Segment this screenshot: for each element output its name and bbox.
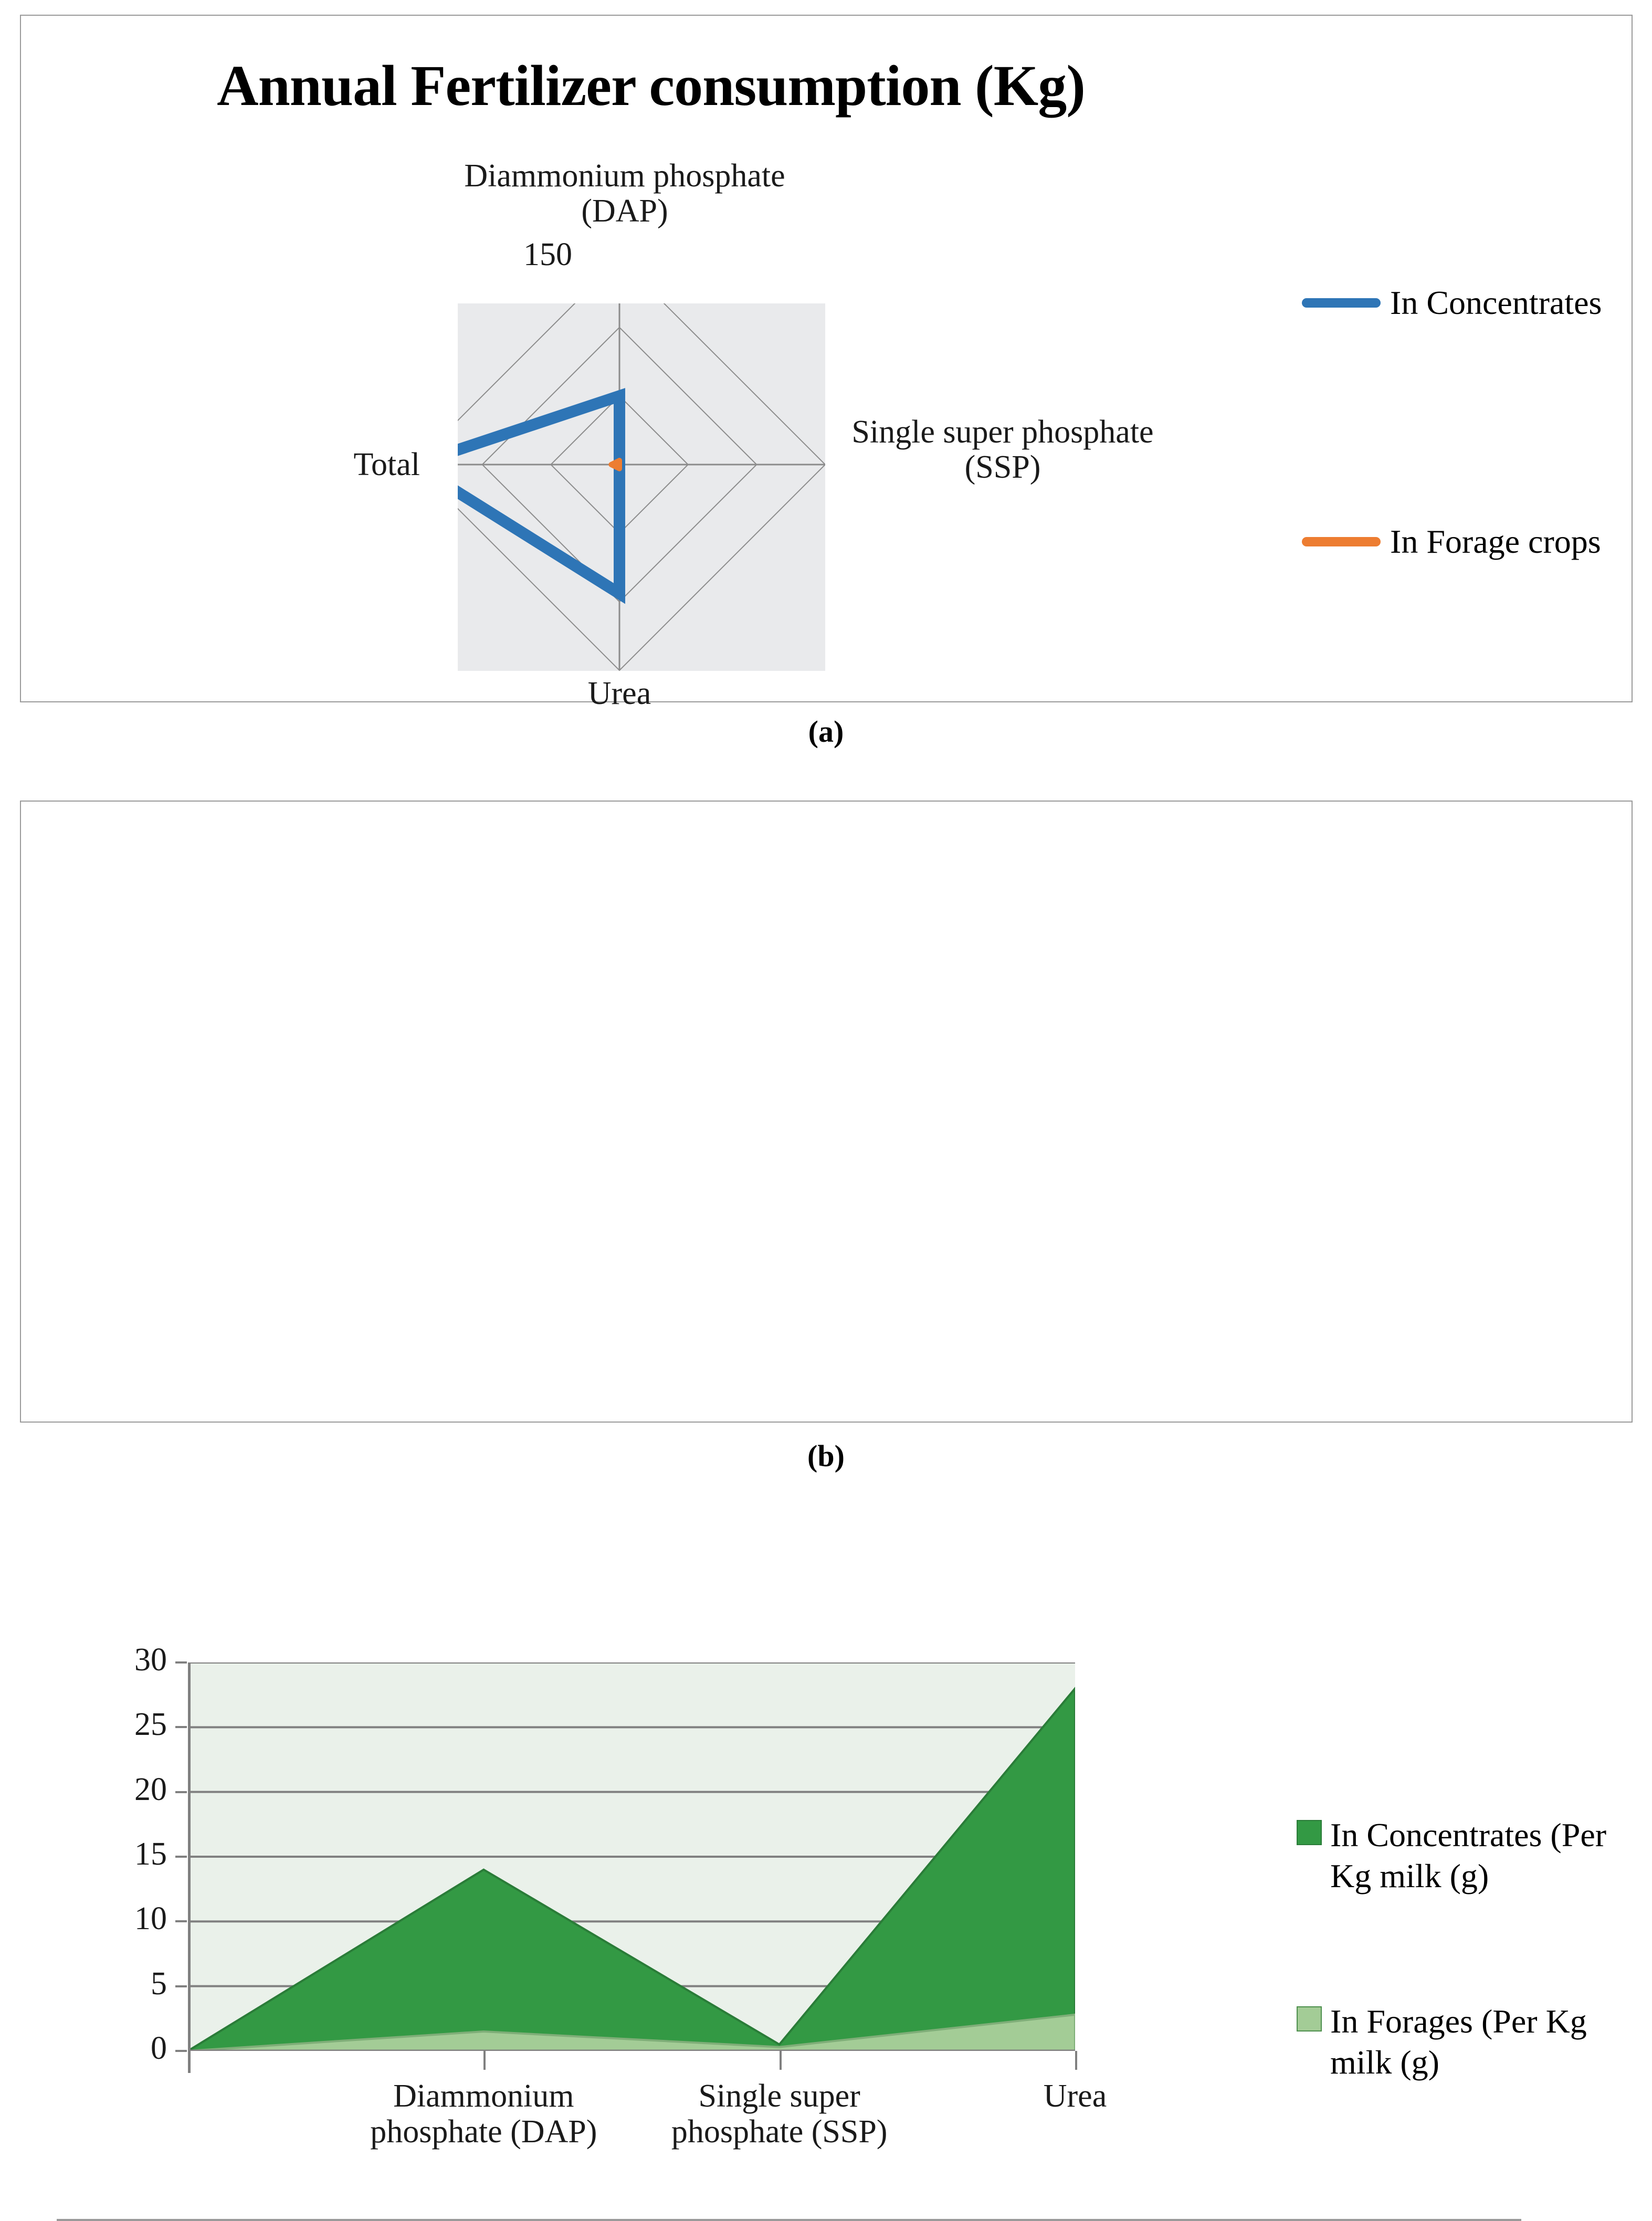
subfigure-caption-b: (b) bbox=[0, 1438, 1652, 1473]
figure-page: Annual Fertilizer consumption (Kg) Diamm… bbox=[0, 0, 1652, 1506]
legend-item-in-concentrates[interactable]: In Concentrates bbox=[1302, 283, 1602, 322]
chart-a-title: Annual Fertilizer consumption (Kg) bbox=[21, 52, 1281, 119]
subfigure-caption-a: (a) bbox=[0, 714, 1652, 749]
radar-axis-label-ssp: Single super phosphate (SSP) bbox=[840, 415, 1165, 485]
area-y-tick-mark bbox=[175, 1661, 187, 1664]
legend-label: In Forages (Per Kg milk (g) bbox=[1330, 2001, 1643, 2083]
area-y-tick-mark bbox=[175, 2050, 187, 2052]
legend-line-swatch-orange bbox=[1302, 537, 1381, 546]
area-x-tick-3: Urea bbox=[960, 2078, 1191, 2114]
area-y-tick-15: 15 bbox=[88, 1836, 167, 1873]
area-y-tick-mark bbox=[175, 1920, 187, 1922]
area-x-tick-1: Diammonium phosphate (DAP) bbox=[368, 2078, 599, 2150]
legend-item-in-forage-crops[interactable]: In Forage crops bbox=[1302, 522, 1601, 561]
area-x-tick-2: Single super phosphate (SSP) bbox=[664, 2078, 895, 2150]
radar-chart-svg bbox=[458, 303, 825, 671]
area-x-tick-mark bbox=[1075, 2051, 1077, 2070]
area-y-tick-20: 20 bbox=[88, 1771, 167, 1808]
area-y-tick-mark bbox=[175, 1791, 187, 1793]
area-y-tick-25: 25 bbox=[88, 1706, 167, 1743]
area-y-tick-10: 10 bbox=[88, 1900, 167, 1938]
chart-panel-a: Annual Fertilizer consumption (Kg) Diamm… bbox=[20, 15, 1633, 702]
area-chart-svg bbox=[188, 1662, 1075, 2051]
area-y-axis-spine bbox=[188, 1662, 191, 2073]
legend-label: In Concentrates bbox=[1390, 283, 1602, 322]
area-bottom-rule bbox=[57, 2219, 1521, 2221]
area-y-tick-5: 5 bbox=[88, 1965, 167, 2003]
radar-plot-area bbox=[458, 303, 825, 671]
area-y-tick-mark bbox=[175, 1856, 187, 1858]
radar-tick-150: 150 bbox=[472, 236, 572, 273]
area-x-tick-mark bbox=[780, 2051, 782, 2070]
area-y-tick-mark bbox=[175, 1726, 187, 1728]
legend-square-swatch-light-green bbox=[1297, 2006, 1322, 2031]
legend-line-swatch-blue bbox=[1302, 298, 1381, 308]
area-y-tick-mark bbox=[175, 1985, 187, 1987]
area-y-tick-30: 30 bbox=[88, 1641, 167, 1679]
area-y-tick-0: 0 bbox=[88, 2030, 167, 2067]
legend-label: In Concentrates (Per Kg milk (g) bbox=[1330, 1815, 1643, 1897]
radar-axis-label-total: Total bbox=[294, 447, 420, 482]
legend-item-in-concentrates-per-kg-milk[interactable]: In Concentrates (Per Kg milk (g) bbox=[1297, 1815, 1643, 1897]
area-plot-area bbox=[188, 1662, 1075, 2051]
area-x-tick-mark bbox=[483, 2051, 486, 2070]
chart-panel-b: 302520151050 Diammonium phosphate (DAP)S… bbox=[20, 801, 1633, 1423]
legend-square-swatch-dark-green bbox=[1297, 1820, 1322, 1845]
legend-label: In Forage crops bbox=[1390, 522, 1601, 561]
radar-axis-label-dap: Diammonium phosphate (DAP) bbox=[441, 159, 808, 229]
radar-axis-label-urea: Urea bbox=[514, 676, 724, 711]
legend-item-in-forages-per-kg-milk[interactable]: In Forages (Per Kg milk (g) bbox=[1297, 2001, 1643, 2083]
